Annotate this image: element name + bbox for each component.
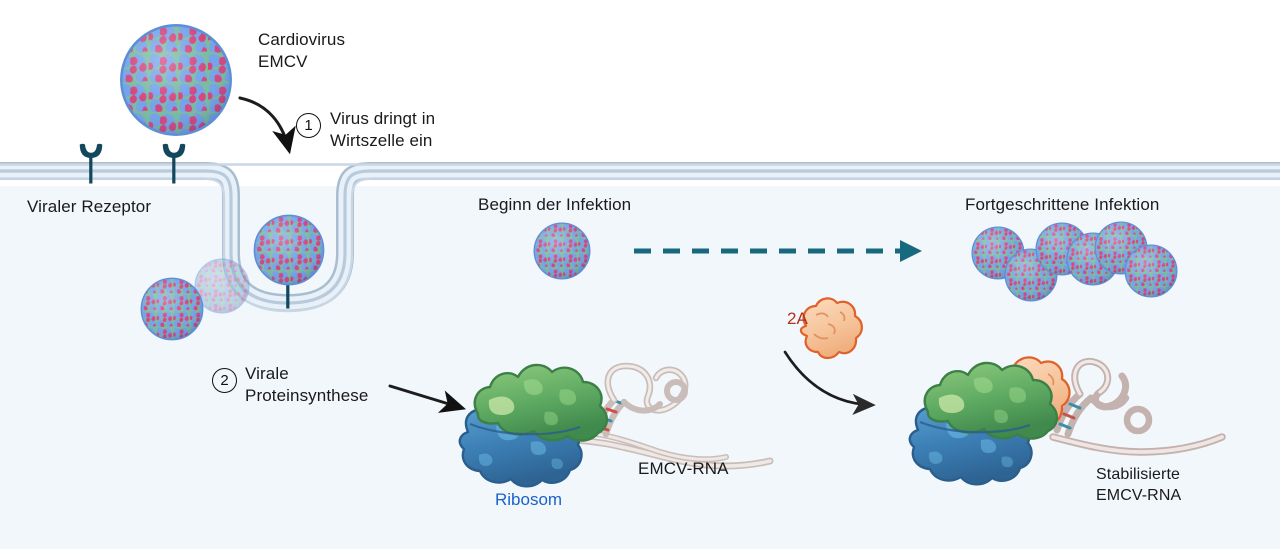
- step-2-badge: 2: [212, 368, 237, 393]
- step-2-number: 2: [220, 372, 228, 389]
- label-cardiovirus: Cardiovirus EMCV: [258, 29, 345, 74]
- viral-receptor-1: [80, 144, 103, 184]
- figure-canvas: Cardiovirus EMCV 1 Virus dringt in Wirts…: [0, 0, 1280, 549]
- label-step-2: Virale Proteinsynthese: [245, 363, 368, 408]
- cytoplasm-region: [0, 186, 1280, 549]
- label-stabilized-rna: Stabilisierte EMCV-RNA: [1096, 464, 1181, 506]
- label-infection-begin: Beginn der Infektion: [478, 194, 631, 216]
- viral-receptor-2: [163, 144, 186, 184]
- label-emcv-rna: EMCV-RNA: [638, 458, 729, 480]
- step1-arrow: [240, 98, 289, 150]
- label-protein-2a: 2A: [787, 309, 808, 329]
- label-step-1: Virus dringt in Wirtszelle ein: [330, 108, 435, 153]
- step-1-number: 1: [304, 117, 312, 134]
- label-viral-receptor: Viraler Rezeptor: [27, 196, 151, 218]
- virion-extracellular: [121, 25, 230, 134]
- step-1-badge: 1: [296, 113, 321, 138]
- label-ribosome: Ribosom: [495, 490, 562, 510]
- label-infection-advanced: Fortgeschrittene Infektion: [965, 194, 1159, 216]
